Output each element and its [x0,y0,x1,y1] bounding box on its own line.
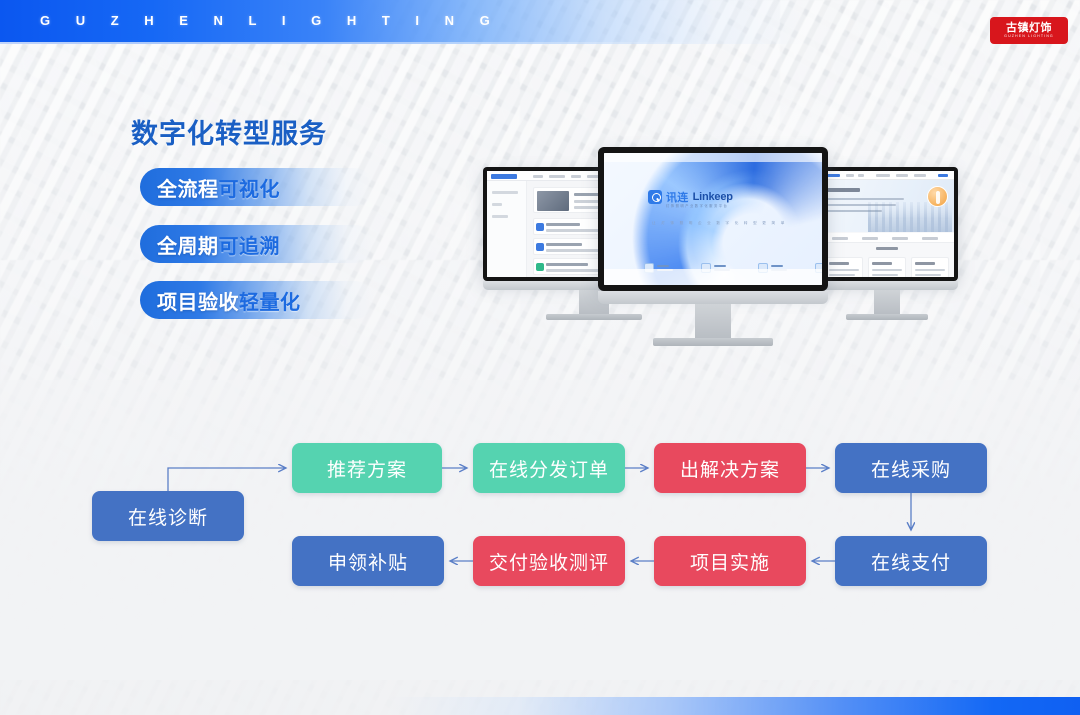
flow-node-project-execution[interactable]: 项目实施 [654,536,806,586]
monitor-right-screen-content [820,171,954,277]
feature-pill-2-blue-text: 可追溯 [219,230,281,259]
feature-pill-traceability: 全周期可追溯 [140,225,374,263]
header-title: G U Z H E N L I G H T I N G [40,13,501,28]
flow-node-online-payment[interactable]: 在线支付 [835,536,987,586]
monitor-right [816,167,958,320]
bottom-accent-bar [0,697,1080,715]
monitor-center: 讯连 Linkeep 灯饰照明产业数字化服务平台 让 灯 饰 照 明 企 业 数… [598,147,828,346]
feature-pill-2-white-text: 全周期 [157,230,219,259]
flow-node-solution-output[interactable]: 出解决方案 [654,443,806,493]
feature-pill-1-blue-text: 可视化 [219,173,281,202]
flow-node-claim-subsidy[interactable]: 申领补贴 [292,536,444,586]
page-title: 数字化转型服务 [131,112,327,151]
linkeep-brand-en: Linkeep [693,191,733,203]
brand-logo-cn: 古镇灯饰 [1006,22,1052,33]
feature-pill-1-white-text: 全流程 [157,173,219,202]
flow-node-online-diagnosis[interactable]: 在线诊断 [92,491,244,541]
brand-logo-en: GUZHEN LIGHTING [1004,35,1054,39]
slide-canvas: G U Z H E N L I G H T I N G 古镇灯饰 GUZHEN … [0,0,1080,715]
brand-logo: 古镇灯饰 GUZHEN LIGHTING [990,17,1068,44]
monitor-center-screen-content: 讯连 Linkeep 灯饰照明产业数字化服务平台 让 灯 饰 照 明 企 业 数… [604,153,822,285]
monitor-group: 讯连 Linkeep 灯饰照明产业数字化服务平台 让 灯 饰 照 明 企 业 数… [480,138,980,348]
flow-node-online-purchase[interactable]: 在线采购 [835,443,987,493]
linkeep-tagline: 让 灯 饰 照 明 企 业 数 字 化 转 型 更 简 单 [652,221,787,226]
flow-node-recommend-plan[interactable]: 推荐方案 [292,443,442,493]
feature-pill-lightweight-acceptance: 项目验收轻量化 [140,281,374,319]
flow-node-online-dispatch[interactable]: 在线分发订单 [473,443,625,493]
flow-node-delivery-review[interactable]: 交付验收测评 [473,536,625,586]
feature-pill-3-blue-text: 轻量化 [239,286,301,315]
linkeep-brand-subtitle: 灯饰照明产业数字化服务平台 [666,203,728,208]
feature-pill-3-white-text: 项目验收 [157,286,239,315]
header-underline [0,42,730,44]
linkeep-logo-icon [648,190,662,204]
feature-pill-visualization: 全流程可视化 [140,168,374,206]
